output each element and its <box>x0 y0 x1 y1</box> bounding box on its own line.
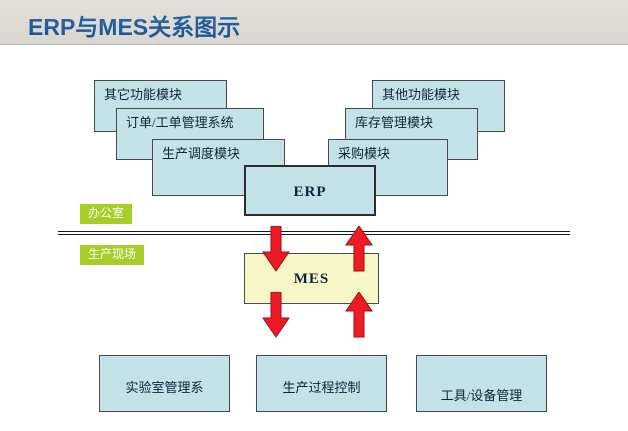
arrow-mes-to-erp-up-icon <box>345 226 373 272</box>
bottom-box-label: 实验室管理系 <box>100 377 229 396</box>
zone-tag-office: 办公室 <box>80 204 132 224</box>
zone-label: 生产现场 <box>88 247 136 261</box>
mes-label: MES <box>245 271 378 288</box>
module-label: 采购模块 <box>338 146 390 162</box>
bottom-box-label: 工具/设备管理 <box>417 385 546 404</box>
bottom-box-tool-equipment-management[interactable]: 工具/设备管理 <box>416 355 547 412</box>
zone-divider-line <box>58 231 570 235</box>
slide-canvas: ERP与MES关系图示 其它功能模块 订单/工单管理系统 生产调度模块 其他功能… <box>0 0 628 431</box>
arrow-mes-to-shopfloor-down-icon <box>262 292 290 338</box>
bottom-box-label: 生产过程控制 <box>257 377 386 396</box>
erp-box[interactable]: ERP <box>244 165 376 216</box>
module-label: 其他功能模块 <box>382 87 460 103</box>
module-label: 订单/工单管理系统 <box>126 115 234 131</box>
zone-tag-shopfloor: 生产现场 <box>80 245 144 265</box>
module-label: 其它功能模块 <box>104 87 182 103</box>
arrow-erp-to-mes-down-icon <box>262 226 290 272</box>
page-title: ERP与MES关系图示 <box>28 8 240 42</box>
erp-label: ERP <box>246 184 374 200</box>
zone-label: 办公室 <box>88 206 124 220</box>
module-label: 库存管理模块 <box>355 115 433 131</box>
bottom-box-lab-management[interactable]: 实验室管理系 <box>99 355 230 412</box>
bottom-box-process-control[interactable]: 生产过程控制 <box>256 355 387 412</box>
slide-header: ERP与MES关系图示 <box>0 0 628 45</box>
module-label: 生产调度模块 <box>162 146 240 162</box>
arrow-shopfloor-to-mes-up-icon <box>345 292 373 338</box>
